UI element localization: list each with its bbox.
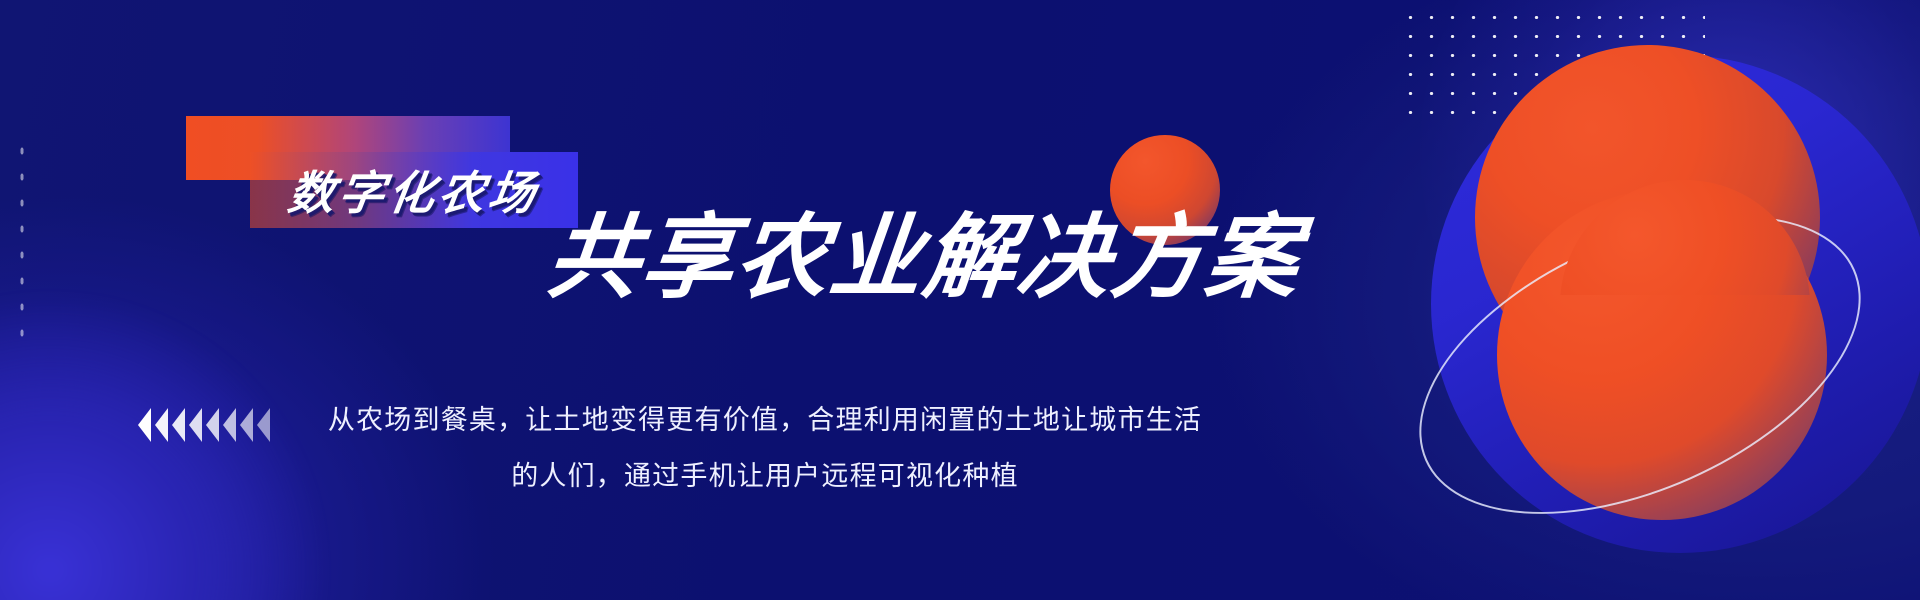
subtitle-block: 从农场到餐桌，让土地变得更有价值，合理利用闲置的土地让城市生活 的人们，通过手机…: [0, 392, 1530, 504]
subtitle-line-2: 的人们，通过手机让用户远程可视化种植: [0, 448, 1530, 504]
badge-label: 数字化农场: [245, 152, 584, 228]
subtitle-line-1: 从农场到餐桌，让土地变得更有价值，合理利用闲置的土地让城市生活: [0, 392, 1530, 448]
page-title: 共享农业解决方案: [543, 212, 1305, 304]
eyebrow-badge: 数字化农场: [186, 116, 586, 228]
hero-banner: 数字化农场 共享农业解决方案 从农场到餐桌，让土地变得更有价值，合理利用闲置的土…: [0, 0, 1920, 600]
dot-column-left: [16, 138, 26, 350]
